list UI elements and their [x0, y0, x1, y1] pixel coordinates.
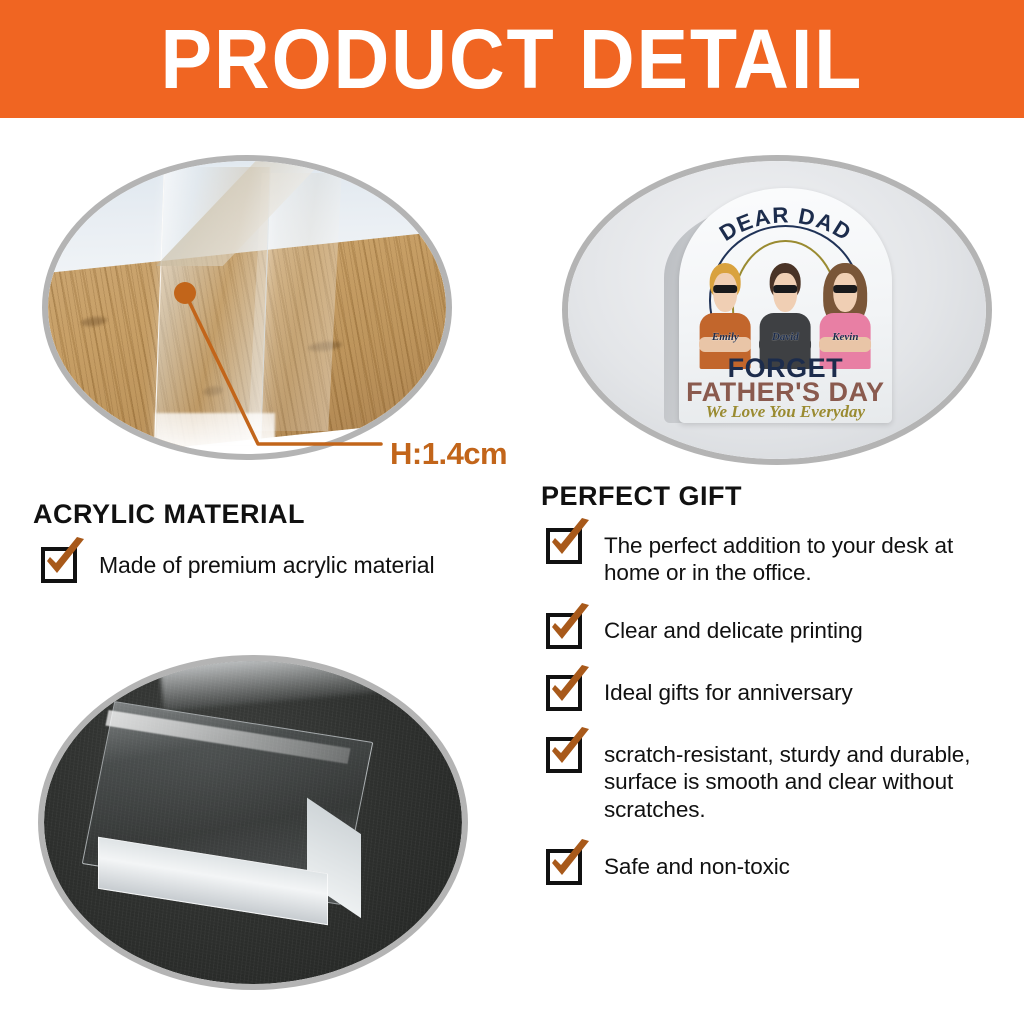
- list-item: Made of premium acrylic material: [41, 543, 511, 583]
- check-glyph: [544, 516, 596, 568]
- photo-plaque-inner: DEAR DAD Emily: [568, 161, 986, 459]
- list-item-text: Ideal gifts for anniversary: [604, 671, 853, 706]
- heading-perfect-gift: PERFECT GIFT: [541, 481, 742, 512]
- photo-acrylic-slab: [38, 655, 468, 990]
- list-item: The perfect addition to your desk at hom…: [546, 524, 1006, 587]
- checkmark-icon: [546, 733, 586, 773]
- list-item-text: Made of premium acrylic material: [99, 543, 435, 579]
- acrylic-base-glow: [155, 413, 274, 448]
- figure-name-label: Kevin: [832, 331, 858, 343]
- check-glyph: [544, 725, 596, 777]
- photo-acrylic-edge: [42, 155, 452, 460]
- figure-name-label: David: [772, 331, 799, 343]
- height-callout-label: H:1.4cm: [390, 436, 507, 472]
- page-title: PRODUCT DETAIL: [161, 17, 864, 101]
- wood-knot: [81, 316, 107, 328]
- header-banner: PRODUCT DETAIL: [0, 0, 1024, 118]
- list-item: Ideal gifts for anniversary: [546, 671, 1006, 711]
- list-item: Safe and non-toxic: [546, 845, 1006, 885]
- check-glyph: [544, 837, 596, 889]
- checkmark-icon: [41, 543, 81, 583]
- plaque-card: DEAR DAD Emily: [679, 188, 892, 423]
- product-detail-infographic: PRODUCT DETAIL H:1.4cm: [0, 0, 1024, 1024]
- checkmark-icon: [546, 671, 586, 711]
- checkmark-icon: [546, 609, 586, 649]
- photo-acrylic-slab-inner: [44, 661, 462, 984]
- list-item-text: The perfect addition to your desk at hom…: [604, 524, 1006, 587]
- wood-scene: [48, 161, 446, 454]
- checkmark-icon: [546, 845, 586, 885]
- list-item-text: Clear and delicate printing: [604, 609, 863, 644]
- dear-dad-label: DEAR DAD: [715, 202, 856, 246]
- checkmark-icon: [546, 524, 586, 564]
- list-item: scratch-resistant, sturdy and durable, s…: [546, 733, 1006, 823]
- heading-acrylic-material: ACRYLIC MATERIAL: [33, 499, 305, 530]
- callout-dot-icon: [174, 282, 196, 304]
- list-perfect-gift: The perfect addition to your desk at hom…: [546, 524, 1006, 907]
- figure-name-label: Emily: [712, 331, 739, 343]
- check-glyph: [544, 601, 596, 653]
- check-glyph: [39, 535, 91, 587]
- list-item-text: Safe and non-toxic: [604, 845, 790, 880]
- list-item: Clear and delicate printing: [546, 609, 1006, 649]
- list-acrylic-material: Made of premium acrylic material: [41, 543, 511, 583]
- photo-plaque: DEAR DAD Emily: [562, 155, 992, 465]
- sunglasses-icon: [714, 285, 738, 294]
- plaque-line-tagline: We Love You Everyday: [679, 402, 892, 422]
- sunglasses-icon: [774, 285, 798, 294]
- sunglasses-icon: [834, 285, 858, 294]
- list-item-text: scratch-resistant, sturdy and durable, s…: [604, 733, 1006, 823]
- photo-acrylic-edge-inner: [48, 161, 446, 454]
- check-glyph: [544, 663, 596, 715]
